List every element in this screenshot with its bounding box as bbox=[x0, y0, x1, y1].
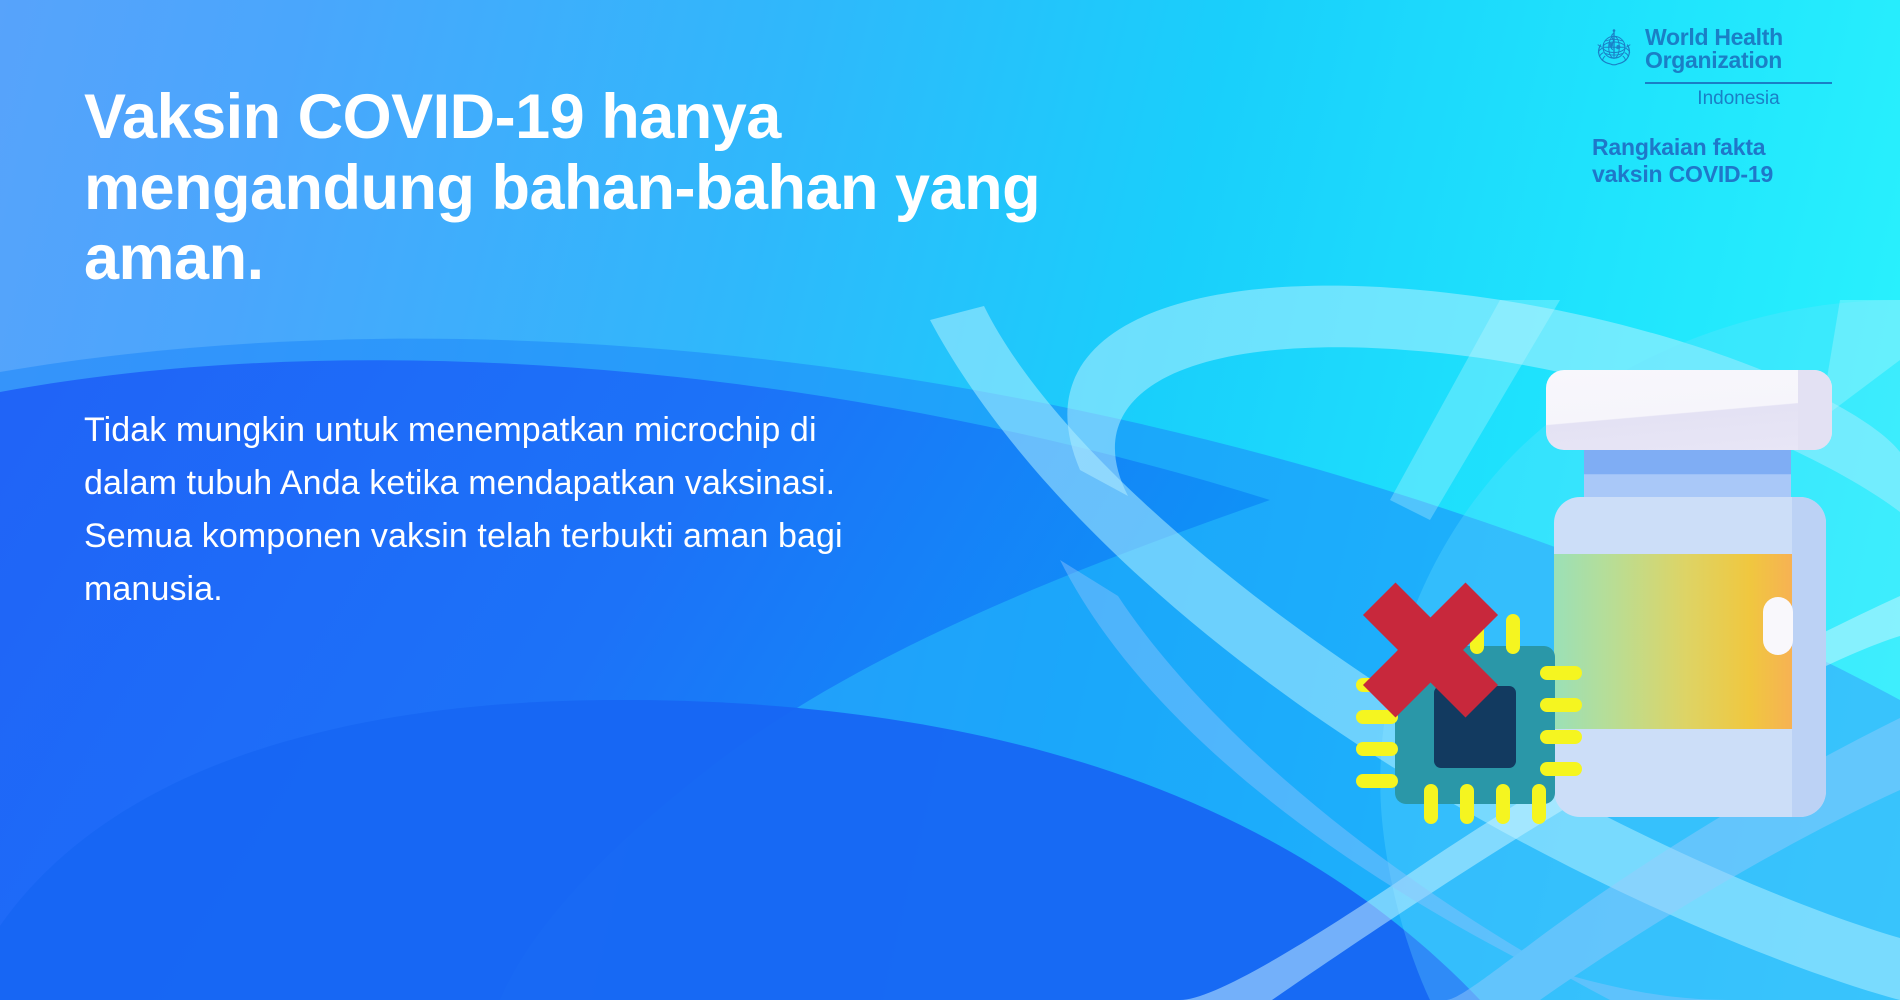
vial-glass-body bbox=[1554, 497, 1826, 817]
headline: Vaksin COVID-19 hanya mengandung bahan-b… bbox=[84, 82, 1044, 294]
chip-pin-left-3 bbox=[1356, 742, 1398, 756]
who-divider-rule bbox=[1645, 82, 1832, 84]
body-text: Tidak mungkin untuk menempatkan microchi… bbox=[84, 404, 874, 616]
who-branding-lockup: World Health Organization Indonesia Rang… bbox=[1592, 26, 1832, 187]
fact-series-line2: vaksin COVID-19 bbox=[1592, 161, 1773, 187]
chip-pin-bottom-3 bbox=[1496, 784, 1510, 824]
who-name: World Health Organization bbox=[1645, 26, 1783, 73]
chip-pin-bottom-1 bbox=[1424, 784, 1438, 824]
fact-series-title: Rangkaian fakta vaksin COVID-19 bbox=[1592, 134, 1832, 187]
vial-cap bbox=[1546, 370, 1832, 450]
poster-canvas: Vaksin COVID-19 hanya mengandung bahan-b… bbox=[0, 0, 1900, 1000]
chip-pin-right-2 bbox=[1540, 698, 1582, 712]
chip-pin-bottom-4 bbox=[1532, 784, 1546, 824]
chip-pin-left-4 bbox=[1356, 774, 1398, 788]
chip-pin-right-3 bbox=[1540, 730, 1582, 744]
who-emblem-icon bbox=[1592, 27, 1636, 76]
vial-body-shadow bbox=[1792, 497, 1826, 817]
vaccine-vial-illustration bbox=[1546, 370, 1836, 820]
chip-pin-right-4 bbox=[1540, 762, 1582, 776]
chip-pin-bottom-2 bbox=[1460, 784, 1474, 824]
who-name-line2: Organization bbox=[1645, 47, 1782, 73]
chip-pin-top-3 bbox=[1506, 614, 1520, 654]
chip-pin-right-1 bbox=[1540, 666, 1582, 680]
who-name-line1: World Health bbox=[1645, 24, 1783, 50]
vial-neck bbox=[1584, 450, 1791, 500]
who-country-label: Indonesia bbox=[1645, 88, 1832, 110]
vial-highlight-glint bbox=[1763, 597, 1793, 655]
vial-cap-shadow bbox=[1798, 370, 1832, 450]
red-cross-mark-icon bbox=[1356, 576, 1504, 724]
fact-series-line1: Rangkaian fakta bbox=[1592, 134, 1765, 160]
